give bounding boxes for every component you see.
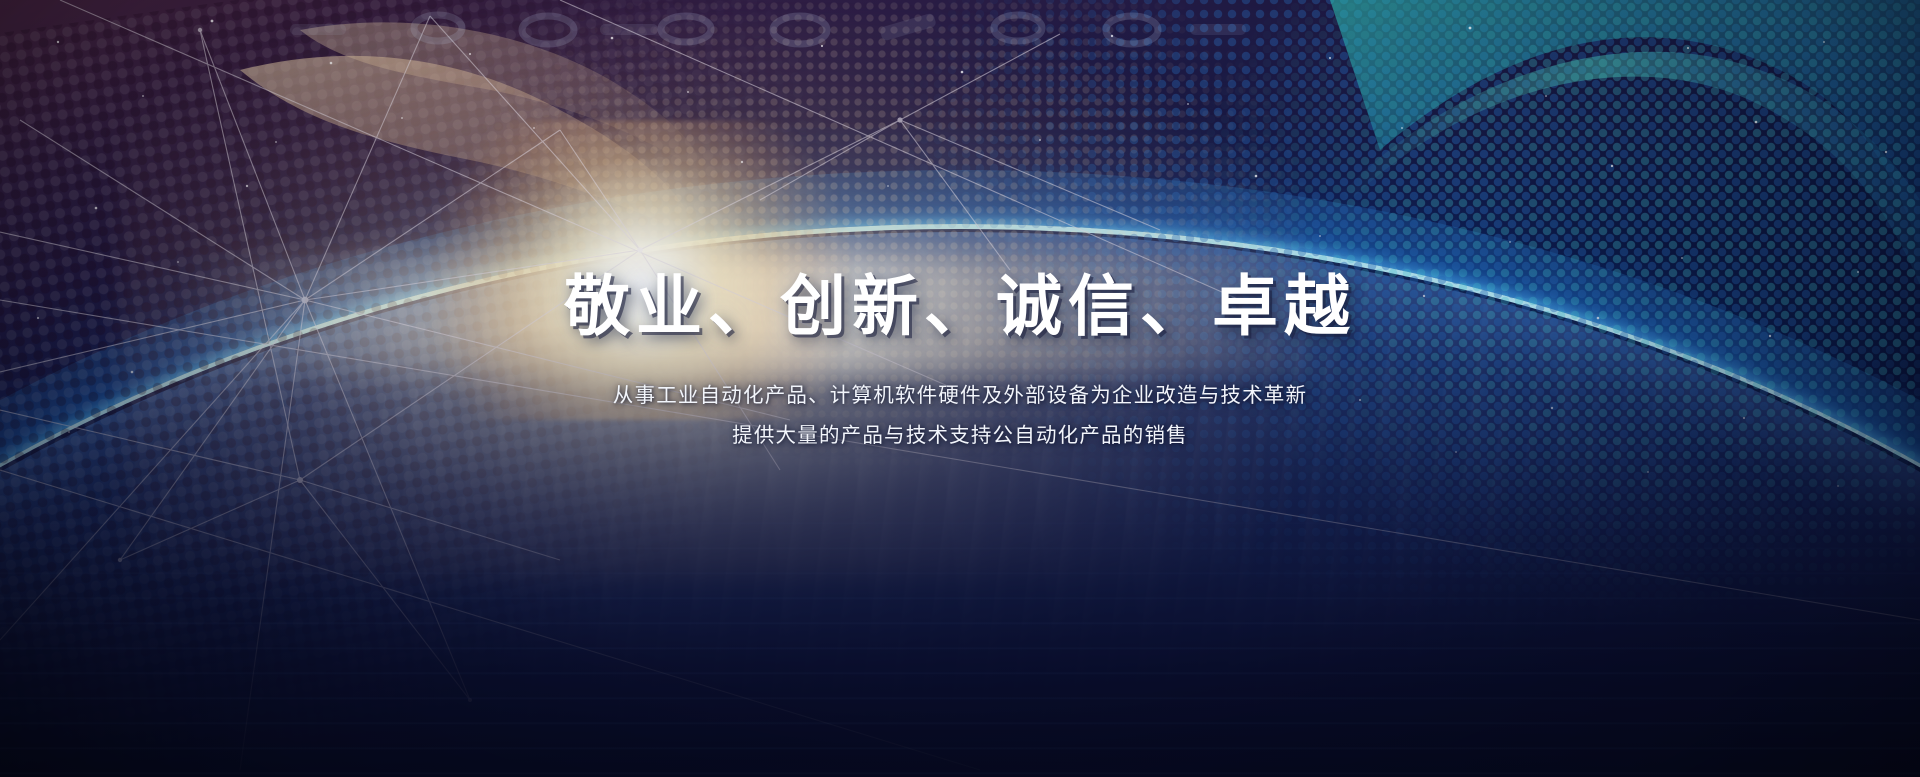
banner-subtitle: 从事工业自动化产品、计算机软件硬件及外部设备为企业改造与技术革新 提供大量的产品… [0, 376, 1920, 456]
hero-banner: 敬业、创新、诚信、卓越 从事工业自动化产品、计算机软件硬件及外部设备为企业改造与… [0, 0, 1920, 777]
page-title: 敬业、创新、诚信、卓越 [0, 268, 1920, 346]
banner-content: 敬业、创新、诚信、卓越 从事工业自动化产品、计算机软件硬件及外部设备为企业改造与… [0, 268, 1920, 456]
subtitle-line-2: 提供大量的产品与技术支持公自动化产品的销售 [0, 416, 1920, 456]
subtitle-line-1: 从事工业自动化产品、计算机软件硬件及外部设备为企业改造与技术革新 [0, 376, 1920, 416]
